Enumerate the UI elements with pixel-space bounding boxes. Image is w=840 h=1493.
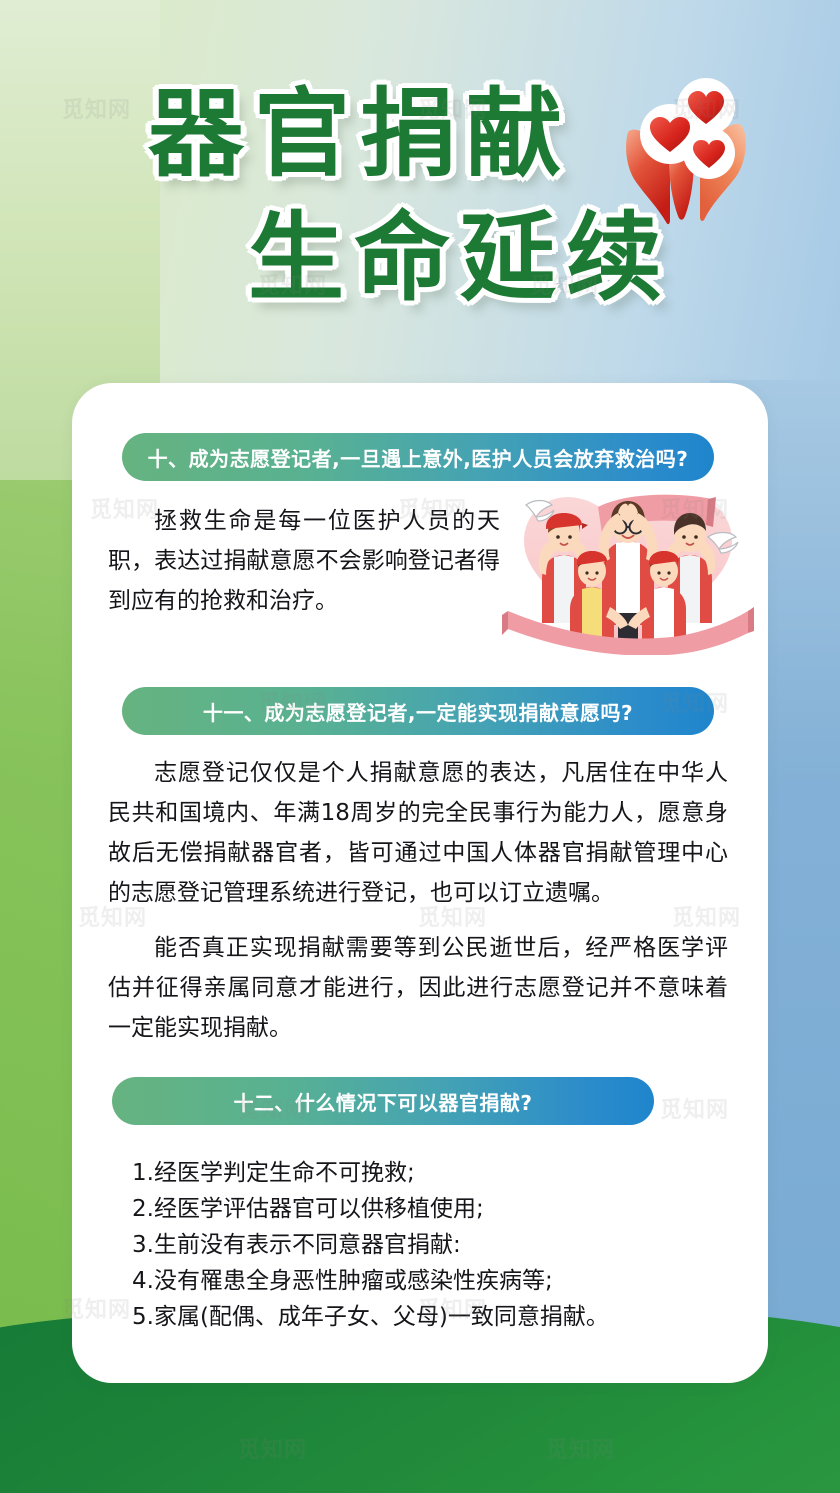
section-11-paragraph-2: 能否真正实现捐献需要等到公民逝世后，经严格医学评估并征得亲属同意才能进行，因此进… [108,928,728,1048]
hands-holding-hearts-logo [622,76,754,238]
section-heading-11: 十一、成为志愿登记者,一定能实现捐献意愿吗? [122,687,714,735]
donation-conditions-list: 1.经医学判定生命不可挽救; 2.经医学评估器官可以供移植使用; 3.生前没有表… [132,1155,732,1335]
list-item: 4.没有罹患全身恶性肿瘤或感染性疾病等; [132,1263,732,1299]
list-item: 2.经医学评估器官可以供移植使用; [132,1191,732,1227]
section-heading-10: 十、成为志愿登记者,一旦遇上意外,医护人员会放弃救治吗? [122,433,714,481]
list-item: 1.经医学判定生命不可挽救; [132,1155,732,1191]
poster-root: 觅知网 觅知网 觅知网 觅知网 觅知网 觅知网 觅知网 觅知网 觅知网 觅知网 … [0,0,840,1493]
list-item: 5.家属(配偶、成年子女、父母)一致同意捐献。 [132,1299,732,1335]
section-10-paragraph-1: 拯救生命是每一位医护人员的天职，表达过捐献意愿不会影响登记者得到应有的抢救和治疗… [108,501,500,621]
volunteers-heart-hands-illustration [502,483,754,655]
content-card: 十、成为志愿登记者,一旦遇上意外,医护人员会放弃救治吗? 拯救生命是每一位医护人… [72,383,768,1383]
list-item: 3.生前没有表示不同意器官捐献: [132,1227,732,1263]
section-11-paragraph-1: 志愿登记仅仅是个人捐献意愿的表达，凡居住在中华人民共和国境内、年满18周岁的完全… [108,753,728,913]
section-heading-12: 十二、什么情况下可以器官捐献? [112,1077,654,1125]
